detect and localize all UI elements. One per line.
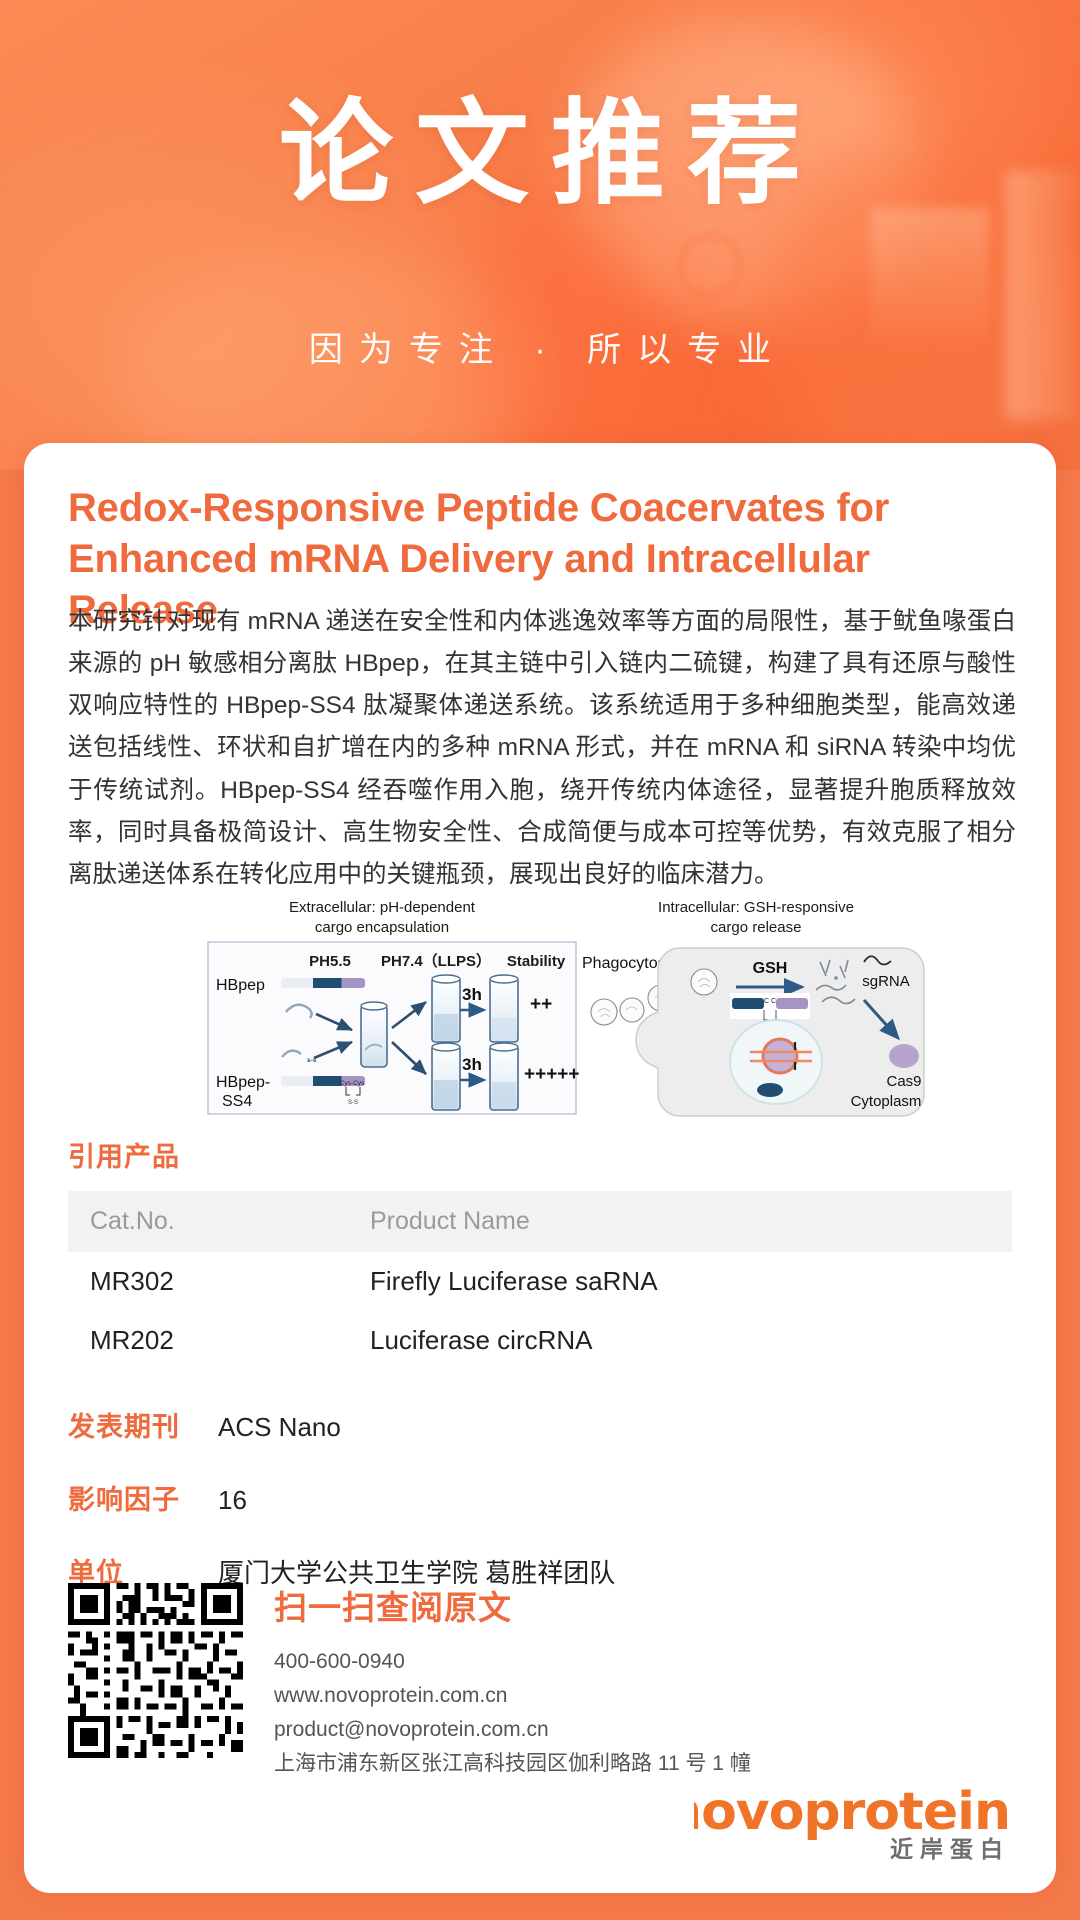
figure-left-caption-line2: cargo encapsulation [315, 919, 449, 936]
figure-right-caption-line1: Intracellular: GSH-responsive [658, 899, 854, 916]
meta-value-journal: ACS Nano [218, 1412, 341, 1443]
figure-cuvette-ss4-0h [432, 1043, 460, 1110]
figure-cas9-blob [889, 1044, 919, 1068]
paper-abstract: 本研究针对现有 mRNA 递送在安全性和内体逃逸效率等方面的局限性，基于鱿鱼喙蛋… [68, 601, 1016, 896]
contact-email[interactable]: product@novoprotein.com.cn [274, 1713, 751, 1747]
figure-ss-label-left: S-S [348, 1100, 358, 1106]
figure-sgrna-label: sgRNA [862, 973, 910, 990]
hero-decor-ring [676, 232, 744, 300]
figure-vesicle-internal [691, 969, 717, 995]
figure-time-label-bottom: 3h [462, 1055, 482, 1074]
figure-row-label-hbpep-ss4-2: SS4 [222, 1093, 252, 1110]
contact-block: 扫一扫查阅原文 400-600-0940 www.novoprotein.com… [274, 1581, 751, 1781]
products-section-title: 引用产品 [68, 1135, 180, 1174]
figure-gsh-label: GSH [753, 960, 788, 977]
contact-phone[interactable]: 400-600-0940 [274, 1645, 751, 1679]
logo-wordmark: novoprotein [694, 1782, 1010, 1842]
meta-value-impact-factor: 16 [218, 1485, 247, 1516]
figure-nucleus-dot [757, 1083, 783, 1097]
meta-key-journal: 发表期刊 [68, 1405, 218, 1444]
scan-prompt: 扫一扫查阅原文 [274, 1581, 751, 1629]
contact-website[interactable]: www.novoprotein.com.cn [274, 1679, 751, 1713]
logo-chinese: 近岸蛋白 [890, 1836, 1010, 1862]
figure-left-caption-line1: Extracellular: pH-dependent [289, 899, 476, 916]
figure-cuvette-hbpep-0h [432, 975, 460, 1042]
contact-address: 上海市浦东新区张江高科技园区伽利略路 11 号 1 幢 [274, 1747, 751, 1781]
company-logo: novoprotein 近岸蛋白 [682, 1781, 1012, 1865]
figure-nucleus-complex [763, 1039, 797, 1073]
paper-figure: Extracellular: pH-dependent cargo encaps… [164, 890, 944, 1122]
column-header-cat-no: Cat.No. [68, 1191, 358, 1252]
figure-col-header-ph74: PH7.4（LLPS） [381, 952, 491, 970]
figure-peptide-bar-hbpep [281, 978, 365, 988]
figure-col-header-stability: Stability [507, 953, 566, 970]
figure-col-header-ph55: PH5.5 [309, 953, 351, 970]
figure-graphic: Extracellular: pH-dependent cargo encaps… [164, 890, 944, 1122]
meta-key-impact-factor: 影响因子 [68, 1478, 218, 1517]
qr-code-icon[interactable] [68, 1583, 243, 1758]
page-title: 论文推荐 [0, 96, 1080, 215]
table-row: MR202 Luciferase circRNA [68, 1311, 1012, 1370]
table-header-row: Cat.No. Product Name [68, 1191, 1012, 1252]
figure-cuvette-hbpep-3h [490, 975, 518, 1042]
figure-center-tube [361, 1002, 387, 1067]
figure-right-caption-line2: cargo release [711, 919, 802, 936]
figure-stability-bottom: +++++ [524, 1064, 579, 1085]
qr-code[interactable] [68, 1583, 243, 1758]
meta-row-impact-factor: 影响因子 16 [68, 1478, 1012, 1517]
figure-cas9-label: Cas9 [886, 1073, 921, 1090]
figure-time-label-top: 3h [462, 985, 482, 1004]
content-card: Redox-Responsive Peptide Coacervates for… [24, 443, 1056, 1893]
figure-peptide-seg-dark [732, 998, 764, 1009]
table-row: MR302 Firefly Luciferase saRNA [68, 1252, 1012, 1311]
cell-cat-no: MR302 [68, 1252, 358, 1311]
figure-stability-top: ++ [530, 994, 552, 1015]
meta-row-journal: 发表期刊 ACS Nano [68, 1405, 1012, 1444]
cell-cat-no: MR202 [68, 1311, 358, 1370]
novoprotein-logo-icon: novoprotein 近岸蛋白 [694, 1781, 1012, 1865]
cell-product-name: Firefly Luciferase saRNA [358, 1252, 1012, 1311]
figure-cys-marker: C C [764, 998, 776, 1005]
figure-peptide-seg-light [776, 998, 808, 1009]
page-subtitle: 因为专注 · 所以专业 [0, 322, 1080, 371]
cell-product-name: Luciferase circRNA [358, 1311, 1012, 1370]
figure-cuvette-ss4-3h [490, 1043, 518, 1110]
column-header-product-name: Product Name [358, 1191, 1012, 1252]
figure-row-label-hbpep: HBpep [216, 977, 265, 994]
figure-cytoplasm-label: Cytoplasm [851, 1093, 922, 1110]
figure-cys-cys-label: Cys-Cys [340, 1080, 365, 1087]
hero-banner: 论文推荐 因为专注 · 所以专业 [0, 0, 1080, 470]
products-table: Cat.No. Product Name MR302 Firefly Lucif… [68, 1191, 1012, 1370]
figure-row-label-hbpep-ss4-1: HBpep- [216, 1074, 270, 1091]
